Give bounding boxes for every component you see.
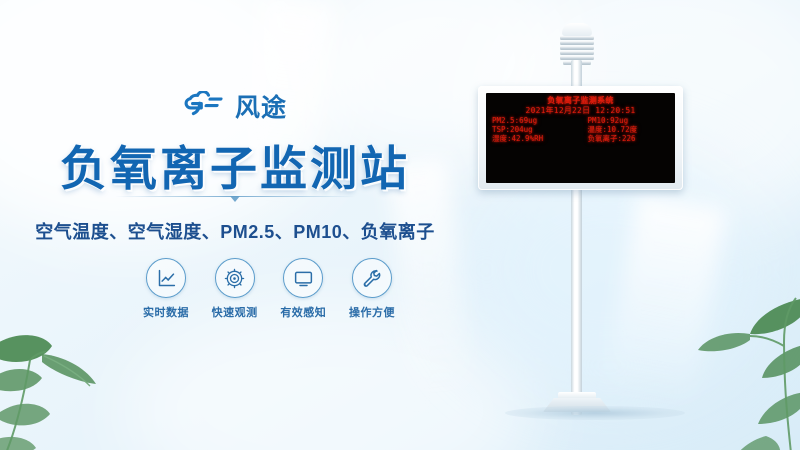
decorative-plant-right-icon — [688, 292, 800, 450]
wrench-icon — [352, 258, 392, 298]
marketing-copy: 风途 负氧离子监测站 空气温度、空气湿度、PM2.5、PM10、负氧离子 实时数… — [0, 0, 470, 450]
led-reading-humidity: 湿度:42.9%RH — [492, 135, 580, 143]
feature-item-effective-sensing[interactable]: 有效感知 — [275, 258, 331, 320]
page-title: 负氧离子监测站 — [0, 130, 470, 199]
feature-item-realtime-data[interactable]: 实时数据 — [138, 258, 194, 320]
feature-label: 快速观测 — [207, 304, 263, 320]
page-subtitle: 空气温度、空气湿度、PM2.5、PM10、负氧离子 — [0, 218, 470, 244]
led-screen: 负氧离子监测系统 2021年12月22日 12:20:51 PM2.5:69ug… — [486, 93, 675, 183]
led-datetime: 2021年12月22日 12:20:51 — [492, 107, 669, 116]
led-reading-negative-ions: 负氧离子:226 — [582, 135, 670, 143]
feature-label: 操作方便 — [344, 304, 400, 320]
feature-label: 实时数据 — [138, 304, 194, 320]
background-streak — [603, 194, 726, 407]
led-title: 负氧离子监测系统 — [492, 97, 669, 106]
monitor-screen-icon — [283, 258, 323, 298]
feature-label: 有效感知 — [275, 304, 331, 320]
radar-scan-icon — [215, 258, 255, 298]
fengtu-cloud-logo-icon — [183, 91, 227, 122]
brand-name: 风途 — [235, 88, 287, 124]
title-divider — [115, 196, 355, 197]
feature-item-fast-observation[interactable]: 快速观测 — [207, 258, 263, 320]
line-chart-icon — [146, 258, 186, 298]
led-display-panel[interactable]: 负氧离子监测系统 2021年12月22日 12:20:51 PM2.5:69ug… — [478, 86, 683, 190]
led-readings: PM2.5:69ug PM10:92ug TSP:204ug 温度:10.72度… — [492, 117, 669, 143]
ground-shadow — [505, 406, 685, 420]
feature-list: 实时数据 快速观测 — [138, 258, 400, 320]
feature-item-easy-operation[interactable]: 操作方便 — [344, 258, 400, 320]
product-banner: 风途 负氧离子监测站 空气温度、空气湿度、PM2.5、PM10、负氧离子 实时数… — [0, 0, 800, 450]
brand-logo: 风途 — [0, 88, 470, 124]
